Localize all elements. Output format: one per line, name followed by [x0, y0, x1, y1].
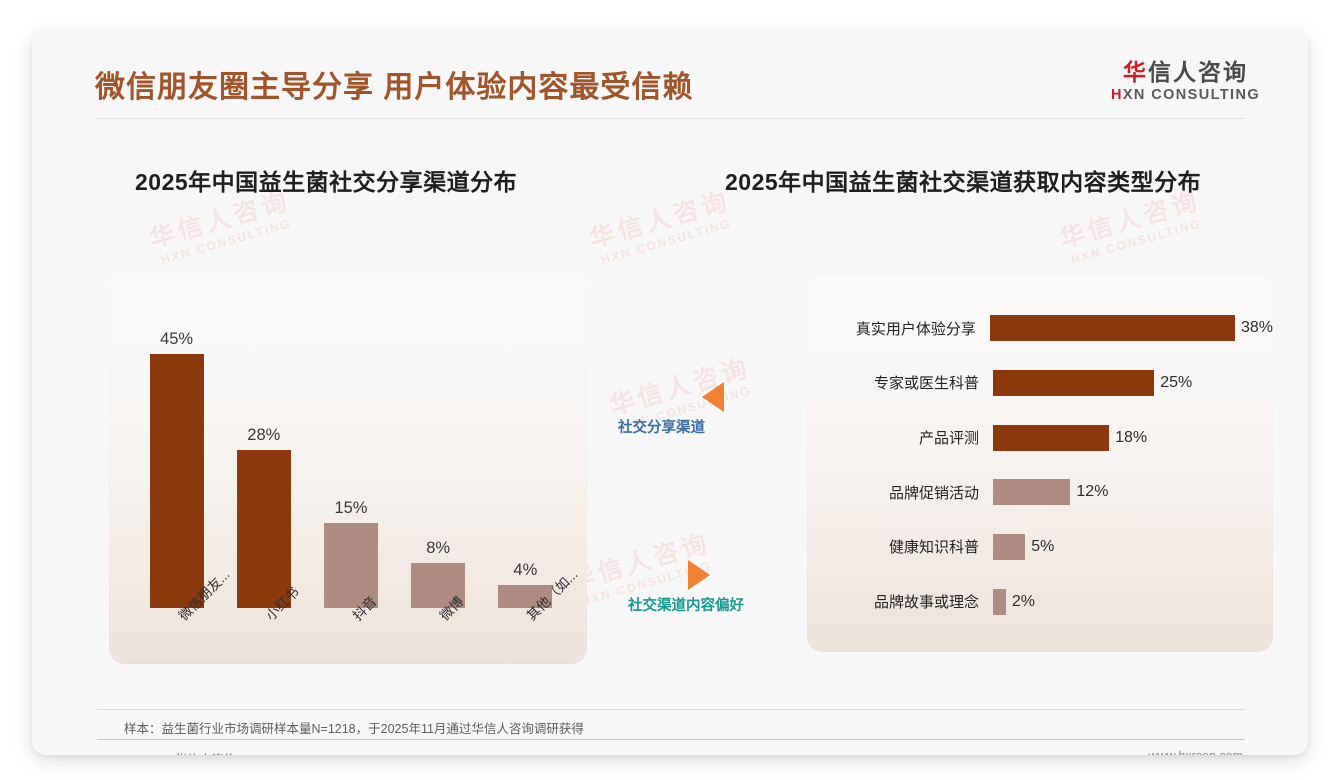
bar-track: 2% — [993, 587, 1273, 617]
page-title: 微信朋友圈主导分享 用户体验内容最受信赖 — [95, 62, 693, 106]
bar-column: 45% — [150, 292, 204, 608]
watermark: 华信人咨询 HXN CONSULTING — [587, 189, 738, 268]
bar-column: 4% — [498, 292, 552, 608]
slide-header: 微信朋友圈主导分享 用户体验内容最受信赖 华信人咨询 HXN CONSULTIN… — [32, 30, 1308, 120]
slide-root: 华信人咨询 HXN CONSULTING 华信人咨询 HXN CONSULTIN… — [0, 0, 1340, 780]
bar-category-label: 健康知识科普 — [807, 536, 993, 557]
triangle-right-icon — [688, 560, 710, 590]
chart-panel-right: 真实用户体验分享38%专家或医生科普25%产品评测18%品牌促销活动12%健康知… — [807, 275, 1273, 652]
sample-footnote: 样本：益生菌行业市场调研样本量N=1218，于2025年11月通过华信人咨询调研… — [124, 718, 584, 737]
logo-chinese-rest: 信人咨询 — [1148, 59, 1248, 85]
vertical-bar-axis-labels: 微信朋友...小红书抖音微博其他（如... — [133, 606, 569, 678]
bar-category-label: 品牌促销活动 — [807, 482, 993, 503]
bar-value-label: 25% — [1160, 374, 1192, 392]
watermark-cn: 华信人咨询 — [147, 189, 293, 253]
logo-english-rest: XN CONSULTING — [1123, 87, 1260, 103]
bar-category-label: 真实用户体验分享 — [807, 318, 990, 339]
bar-value-label: 18% — [1115, 429, 1147, 447]
watermark: 华信人咨询 HXN CONSULTING — [1057, 189, 1208, 268]
watermark-cn: 华信人咨询 — [587, 189, 733, 253]
bar-value-label: 4% — [513, 561, 537, 580]
bar-row: 品牌故事或理念2% — [807, 587, 1273, 617]
bar-column: 8% — [411, 292, 465, 608]
annotation-share-channel: 社交分享渠道 — [610, 382, 820, 437]
bar-value-label: 12% — [1076, 483, 1108, 501]
bar-track: 25% — [993, 368, 1273, 398]
footnote-divider — [97, 709, 1245, 710]
bar-track: 5% — [993, 532, 1273, 562]
website-link[interactable]: www.hxrcon.com — [1149, 749, 1243, 755]
bar-rect — [993, 425, 1109, 451]
bar-value-label: 28% — [247, 426, 280, 445]
bar-category-label: 专家或医生科普 — [807, 372, 993, 393]
annotation-content-preference: 社交渠道内容偏好 — [610, 560, 838, 615]
bar-rect — [993, 534, 1025, 560]
bar-rect — [237, 450, 291, 608]
bar-category-label: 产品评测 — [807, 427, 993, 448]
bar-category-slot: 微信朋友... — [150, 606, 204, 678]
horizontal-bar-plot: 真实用户体验分享38%专家或医生科普25%产品评测18%品牌促销活动12%健康知… — [807, 295, 1273, 635]
bar-row: 健康知识科普5% — [807, 532, 1273, 562]
chart-title-left: 2025年中国益生菌社交分享渠道分布 — [135, 163, 517, 197]
logo-accent-char: 华 — [1123, 59, 1148, 85]
watermark-cn: 华信人咨询 — [1057, 189, 1203, 253]
watermark-en: HXN CONSULTING — [1065, 215, 1208, 268]
watermark-en: HXN CONSULTING — [595, 215, 738, 268]
bar-row: 品牌促销活动12% — [807, 477, 1273, 507]
slide-card: 华信人咨询 HXN CONSULTING 华信人咨询 HXN CONSULTIN… — [32, 30, 1308, 755]
watermark-en: HXN CONSULTING — [155, 215, 298, 268]
footer-divider — [97, 739, 1245, 740]
bar-value-label: 8% — [426, 539, 450, 558]
bar-value-label: 45% — [160, 330, 193, 349]
annotation-share-channel-label: 社交分享渠道 — [610, 416, 820, 437]
bar-track: 18% — [993, 423, 1273, 453]
watermark: 华信人咨询 HXN CONSULTING — [147, 189, 298, 268]
bar-rect — [993, 589, 1006, 615]
bar-rect — [990, 315, 1235, 341]
bar-value-label: 15% — [334, 499, 367, 518]
bar-row: 真实用户体验分享38% — [807, 313, 1273, 343]
vertical-bar-plot: 45%28%15%8%4% — [133, 292, 569, 608]
bar-column: 15% — [324, 292, 378, 608]
bar-category-slot: 微博 — [411, 606, 465, 678]
chart-title-right: 2025年中国益生菌社交渠道获取内容类型分布 — [725, 163, 1201, 197]
header-divider — [95, 118, 1245, 119]
triangle-left-icon — [702, 382, 724, 412]
bar-value-label: 2% — [1012, 593, 1035, 611]
bar-row: 专家或医生科普25% — [807, 368, 1273, 398]
bar-track: 38% — [990, 313, 1273, 343]
bar-track: 12% — [993, 477, 1273, 507]
bar-value-label: 5% — [1031, 538, 1054, 556]
logo-chinese: 华信人咨询 — [1098, 60, 1273, 84]
bar-row: 产品评测18% — [807, 423, 1273, 453]
logo-english: HXN CONSULTING — [1098, 87, 1273, 103]
bar-rect — [993, 479, 1070, 505]
bar-category-slot: 小红书 — [237, 606, 291, 678]
bar-rect — [150, 354, 204, 608]
brand-logo: 华信人咨询 HXN CONSULTING — [1098, 60, 1273, 103]
bar-column: 28% — [237, 292, 291, 608]
copyright-text: ©2026.1 HXR华信人咨询 — [97, 749, 237, 755]
bar-category-slot: 抖音 — [324, 606, 378, 678]
bar-rect — [993, 370, 1154, 396]
chart-panel-left: 45%28%15%8%4% 微信朋友...小红书抖音微博其他（如... — [109, 270, 587, 664]
logo-english-accent: H — [1111, 87, 1123, 103]
bar-value-label: 38% — [1241, 319, 1273, 337]
annotation-content-preference-label: 社交渠道内容偏好 — [610, 594, 838, 615]
bar-category-slot: 其他（如... — [498, 606, 552, 678]
